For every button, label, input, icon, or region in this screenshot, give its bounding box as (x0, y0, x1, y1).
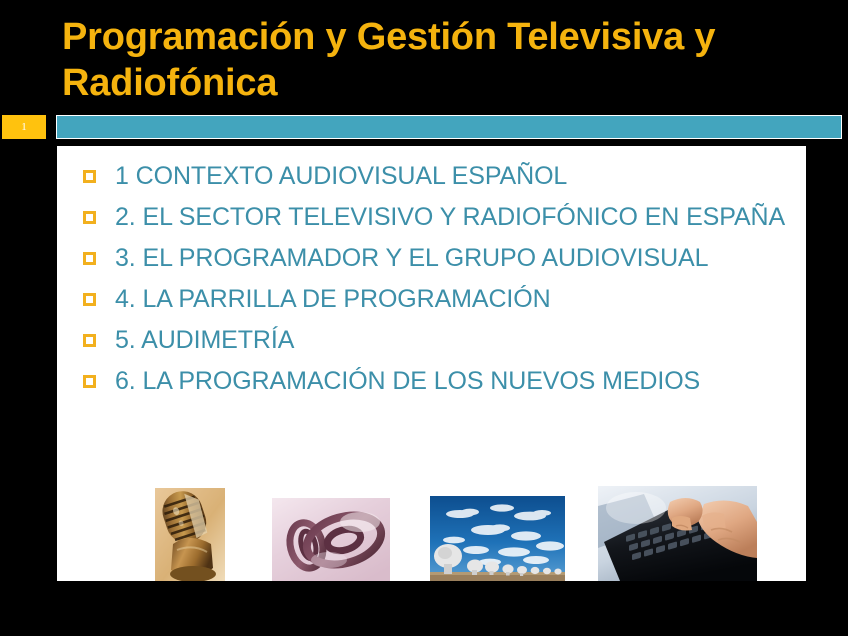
satellite-dishes-image (430, 496, 565, 581)
page-title: Programación y Gestión Televisiva y Radi… (62, 14, 822, 106)
list-item: 3. EL PROGRAMADOR Y EL GRUPO AUDIOVISUAL (70, 242, 796, 274)
vintage-microphone-photo (155, 488, 225, 581)
list-item: 1 CONTEXTO AUDIOVISUAL ESPAÑOL (70, 160, 796, 192)
at-symbol-image (272, 498, 390, 581)
square-bullet-icon (83, 334, 96, 347)
list-item: 2. EL SECTOR TELEVISIVO Y RADIOFÓNICO EN… (70, 201, 796, 233)
list-item: 6. LA PROGRAMACIÓN DE LOS NUEVOS MEDIOS (70, 365, 796, 397)
teal-divider-bar (56, 115, 842, 139)
list-item-label: 3. EL PROGRAMADOR Y EL GRUPO AUDIOVISUAL (115, 244, 708, 272)
satellite-dishes-photo (430, 496, 565, 581)
outline-list: 1 CONTEXTO AUDIOVISUAL ESPAÑOL 2. EL SEC… (70, 160, 796, 406)
presentation-slide: Programación y Gestión Televisiva y Radi… (0, 0, 848, 636)
content-panel: 1 CONTEXTO AUDIOVISUAL ESPAÑOL 2. EL SEC… (57, 146, 806, 581)
hands-typing-keyboard-photo (598, 486, 757, 581)
square-bullet-icon (83, 293, 96, 306)
square-bullet-icon (83, 170, 96, 183)
list-item: 4. LA PARRILLA DE PROGRAMACIÓN (70, 283, 796, 315)
list-item-label: 2. EL SECTOR TELEVISIVO Y RADIOFÓNICO EN… (115, 203, 785, 231)
at-symbol-photo (272, 498, 390, 581)
list-item-label: 1 CONTEXTO AUDIOVISUAL ESPAÑOL (115, 162, 567, 190)
title-area: Programación y Gestión Televisiva y Radi… (62, 14, 822, 106)
vintage-microphone-image (155, 488, 225, 581)
list-item: 5. AUDIMETRÍA (70, 324, 796, 356)
list-item-label: 5. AUDIMETRÍA (115, 326, 294, 354)
square-bullet-icon (83, 211, 96, 224)
list-item-label: 6. LA PROGRAMACIÓN DE LOS NUEVOS MEDIOS (115, 367, 700, 395)
square-bullet-icon (83, 252, 96, 265)
slide-number-badge: 1 (2, 115, 46, 139)
square-bullet-icon (83, 375, 96, 388)
hands-typing-keyboard-image (598, 486, 757, 581)
slide-number-band: 1 (0, 115, 848, 139)
thumbnail-row (57, 486, 806, 581)
list-item-label: 4. LA PARRILLA DE PROGRAMACIÓN (115, 285, 551, 313)
